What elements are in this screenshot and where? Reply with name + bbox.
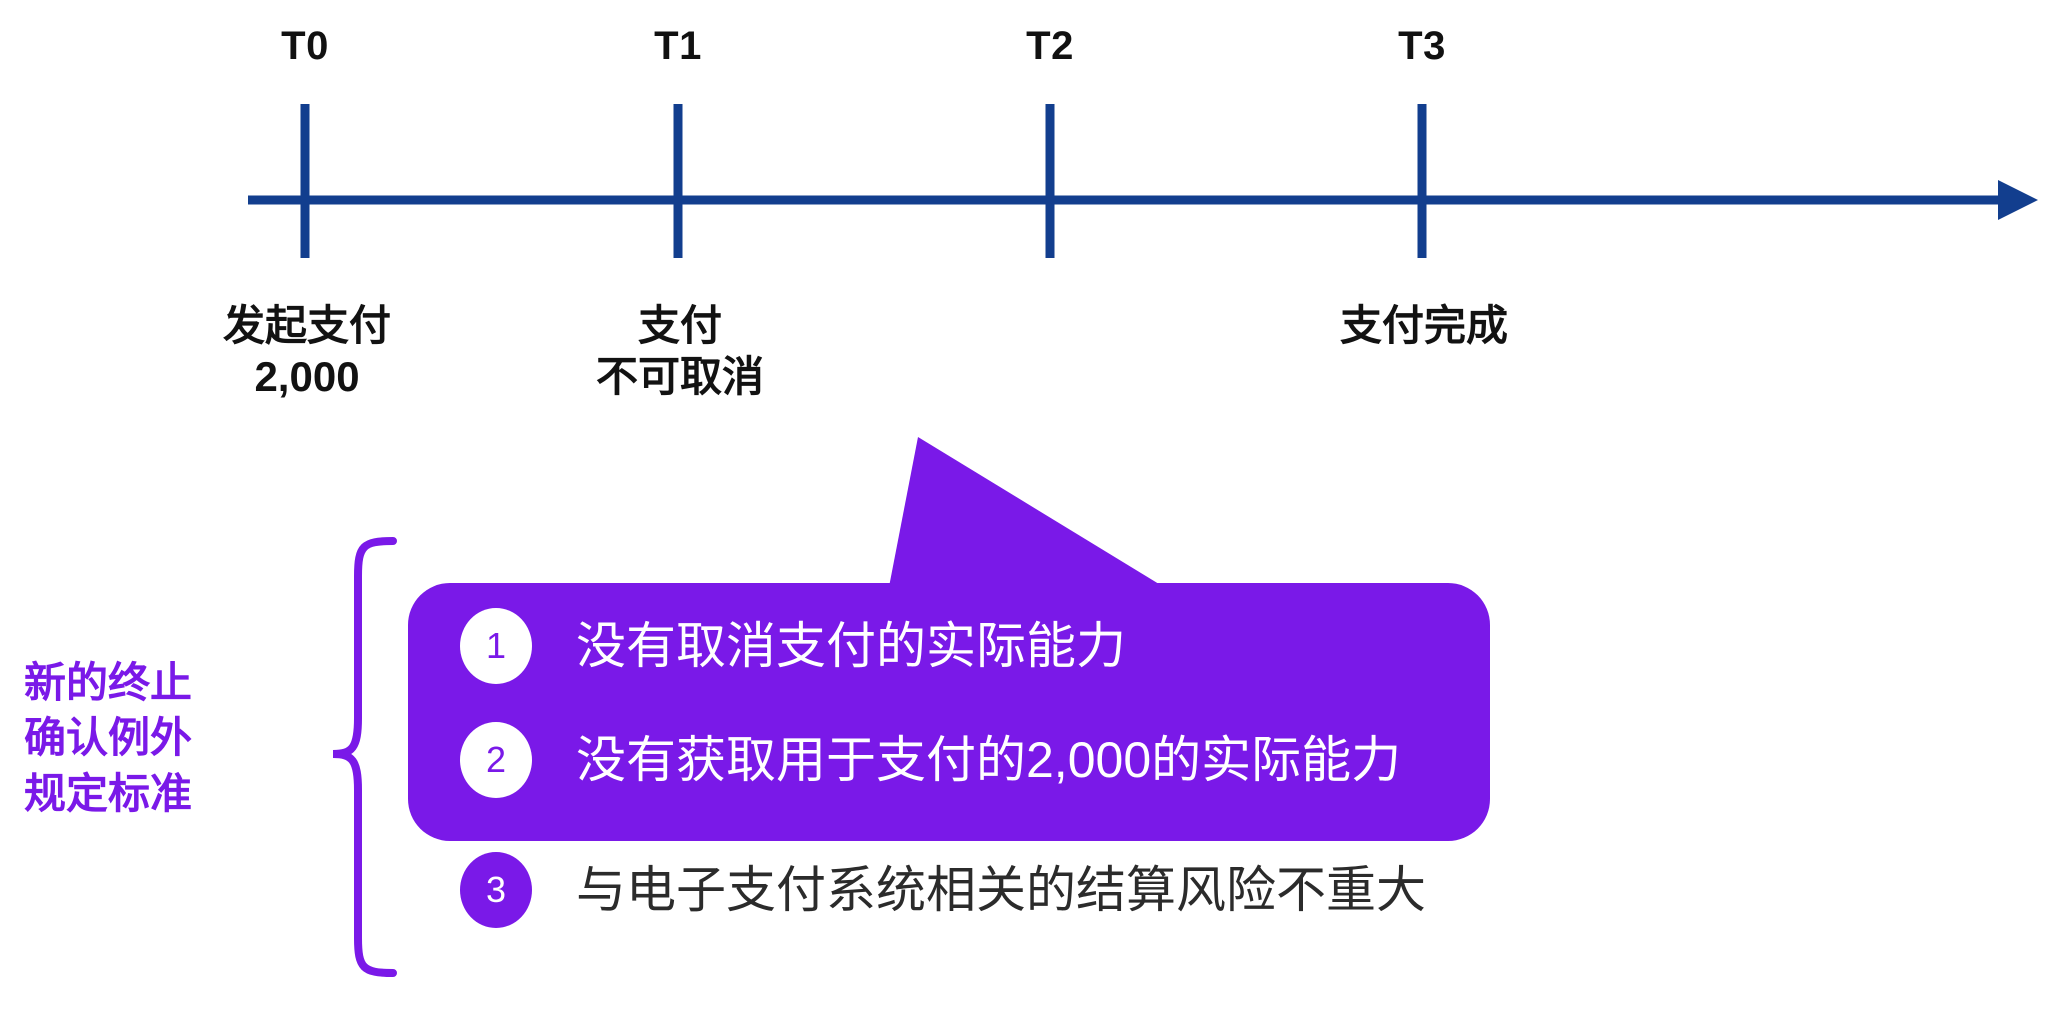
tick-label-t1: T1 bbox=[654, 24, 702, 69]
milestone-caption-t1: 支付 不可取消 bbox=[596, 300, 764, 402]
milestone-caption-t3: 支付完成 bbox=[1340, 300, 1508, 351]
brace-caption-line1: 新的终止 bbox=[24, 655, 294, 710]
brace-caption: 新的终止 确认例外 规定标准 bbox=[24, 655, 294, 821]
criteria-brace bbox=[333, 541, 393, 973]
brace-caption-line2: 确认例外 bbox=[24, 710, 294, 765]
milestone-caption-t1-line2: 不可取消 bbox=[596, 351, 764, 402]
callout-tail bbox=[888, 437, 1172, 592]
milestone-caption-t0-line2: 2,000 bbox=[223, 351, 391, 402]
tick-label-t0: T0 bbox=[281, 24, 329, 69]
criteria-item-1: 1 没有取消支付的实际能力 bbox=[460, 601, 1126, 691]
milestone-caption-t1-line1: 支付 bbox=[596, 300, 764, 351]
timeline-arrowhead bbox=[1998, 180, 2038, 220]
criteria-item-2: 2 没有获取用于支付的2,000的实际能力 bbox=[460, 715, 1401, 805]
milestone-caption-t0: 发起支付 2,000 bbox=[223, 300, 391, 402]
milestone-caption-t3-line1: 支付完成 bbox=[1340, 300, 1508, 351]
criteria-text-2: 没有获取用于支付的2,000的实际能力 bbox=[576, 735, 1401, 785]
tick-label-t2: T2 bbox=[1026, 24, 1074, 69]
milestone-caption-t0-line1: 发起支付 bbox=[223, 300, 391, 351]
brace-caption-line3: 规定标准 bbox=[24, 766, 294, 821]
diagram-canvas: T0 T1 T2 T3 发起支付 2,000 支付 不可取消 支付完成 新的终止… bbox=[0, 0, 2048, 1033]
criteria-callout-bubble: 1 没有取消支付的实际能力 2 没有获取用于支付的2,000的实际能力 bbox=[408, 583, 1490, 841]
criteria-text-1: 没有取消支付的实际能力 bbox=[576, 621, 1126, 671]
criteria-badge-3: 3 bbox=[460, 852, 532, 928]
criteria-item-3: 3 与电子支付系统相关的结算风险不重大 bbox=[460, 845, 1426, 935]
tick-label-t3: T3 bbox=[1398, 24, 1446, 69]
criteria-text-3: 与电子支付系统相关的结算风险不重大 bbox=[576, 865, 1426, 915]
criteria-badge-1: 1 bbox=[460, 608, 532, 684]
criteria-badge-2: 2 bbox=[460, 722, 532, 798]
